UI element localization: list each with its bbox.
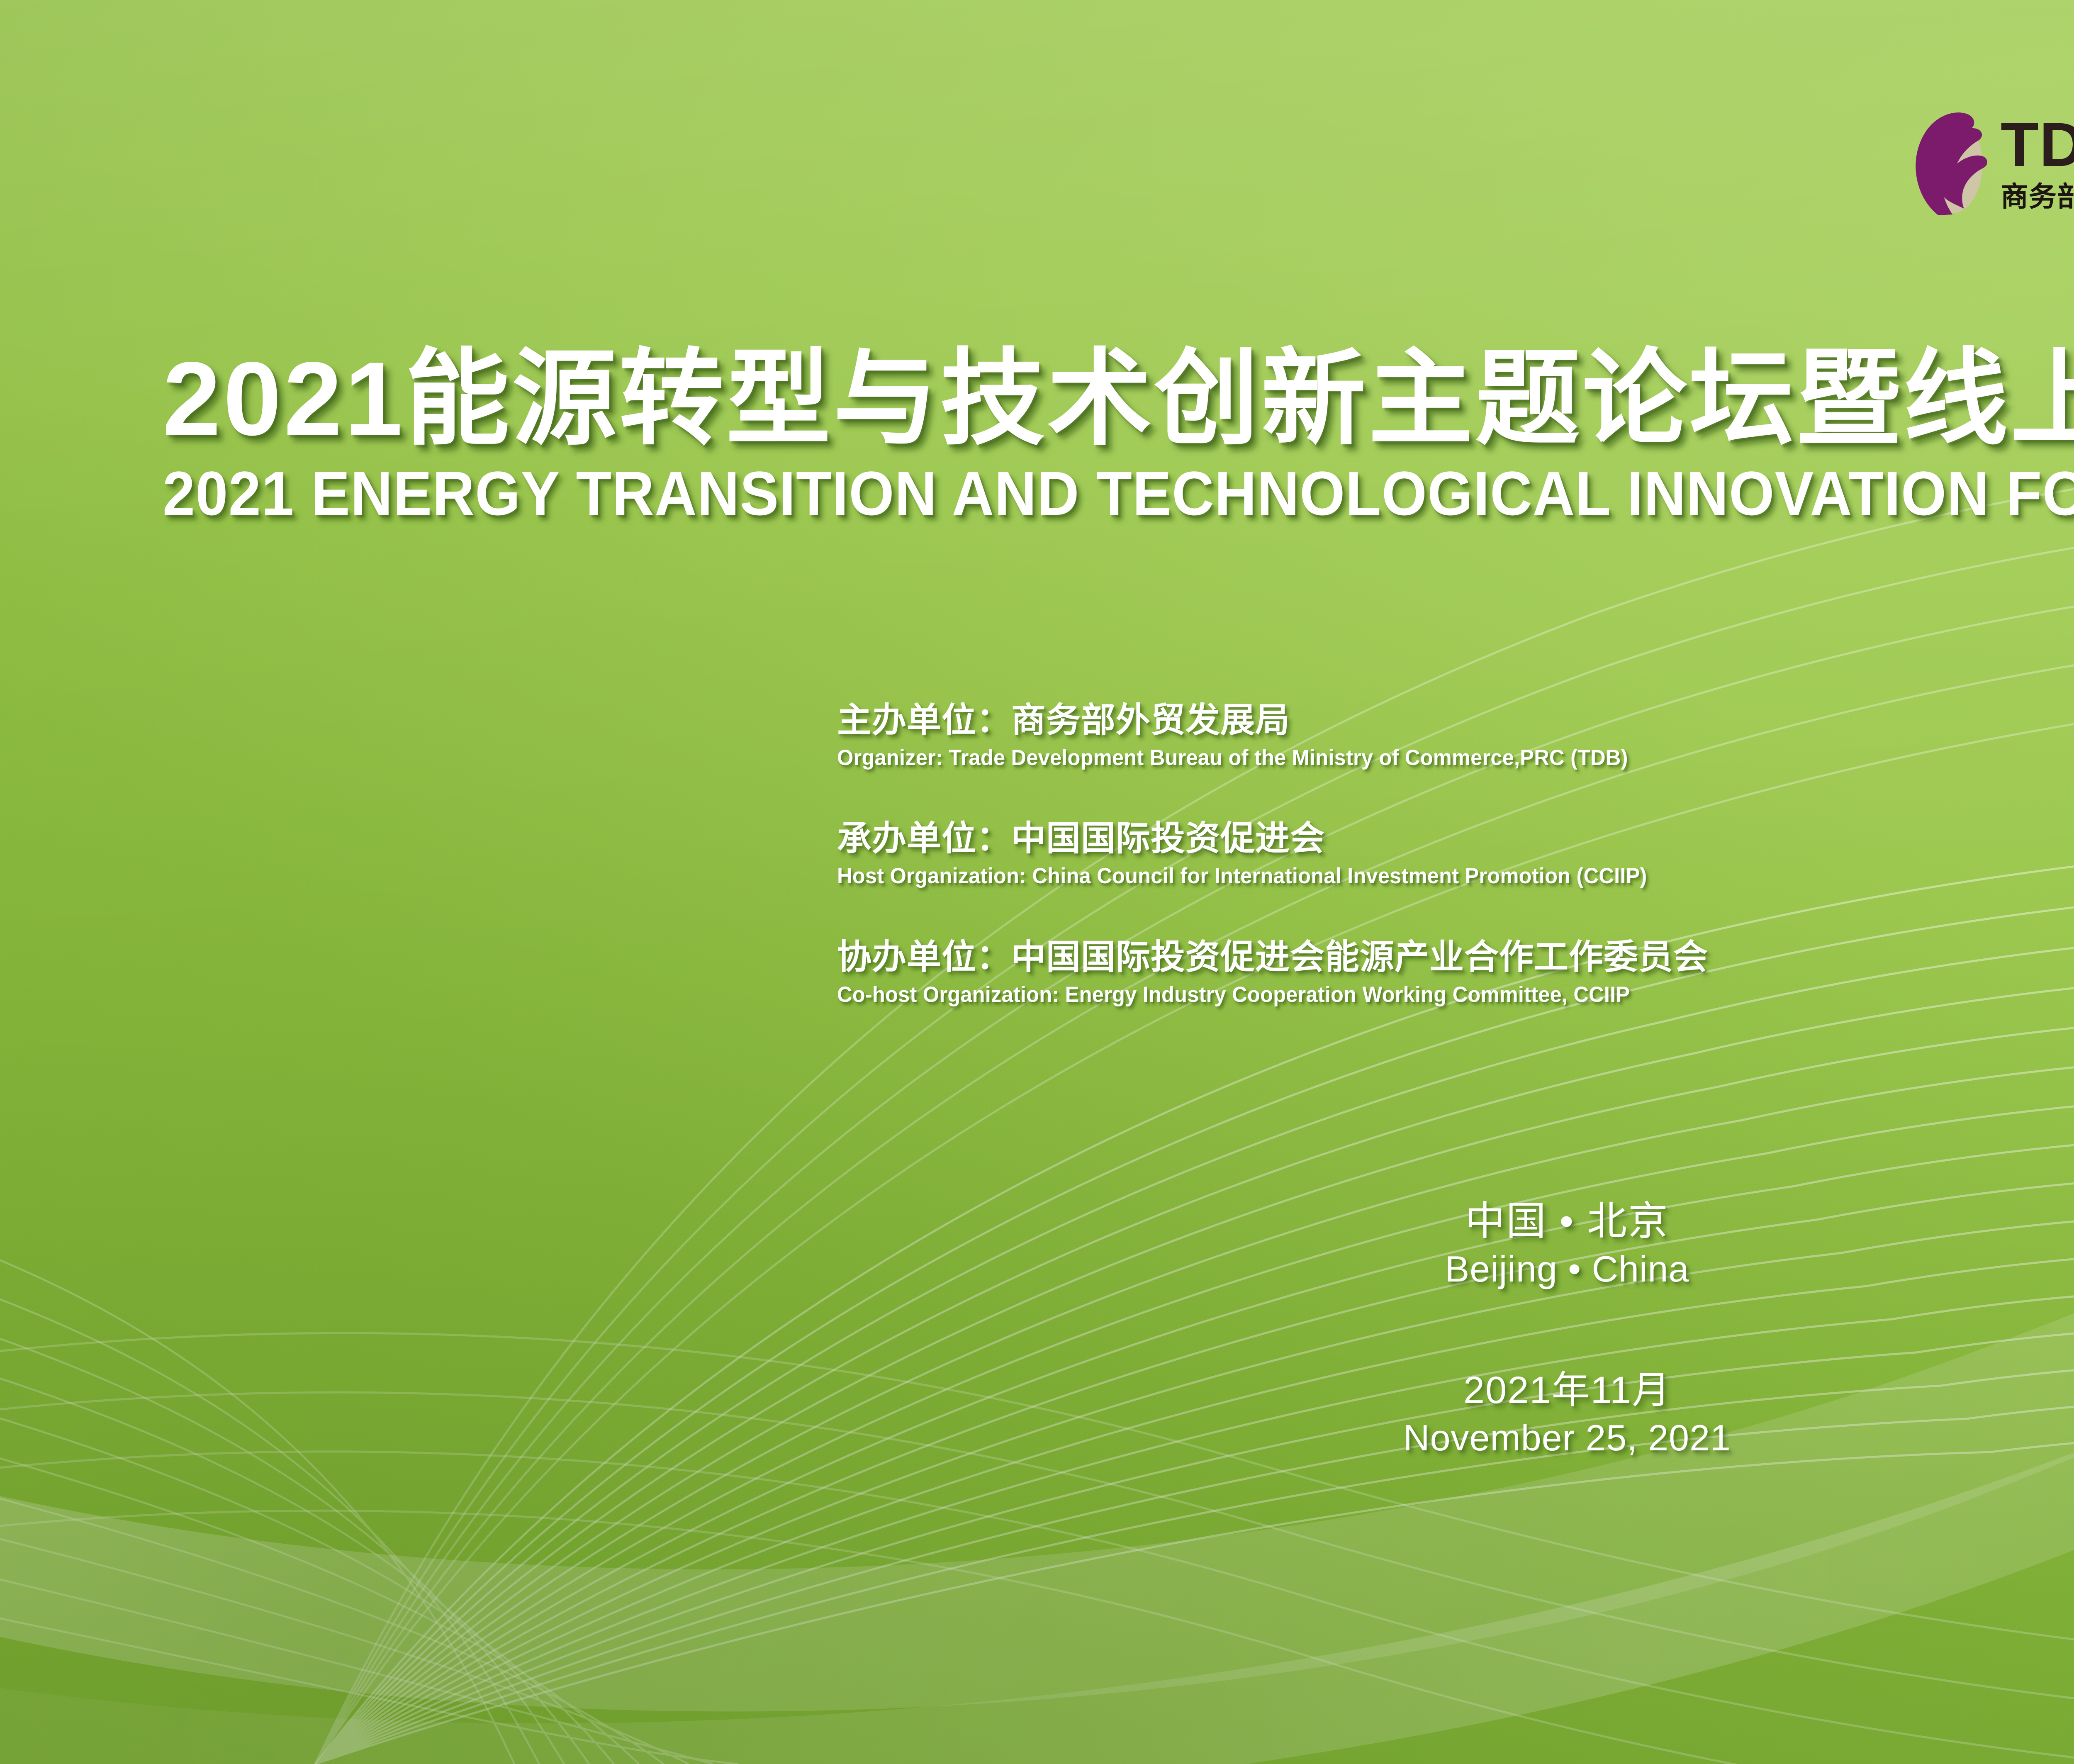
tdb-chinese-name: 商务部外贸发展局 bbox=[2001, 180, 2074, 214]
background-curve-fan-left bbox=[0, 1228, 738, 1764]
host-organization-english: Host Organization: China Council for Int… bbox=[837, 864, 2074, 889]
background-curve-fan-upper bbox=[315, 444, 2074, 1764]
venue-chinese: 中国 • 北京 bbox=[837, 1199, 2074, 1244]
organizer-english: Organizer: Trade Development Bureau of t… bbox=[837, 746, 2074, 770]
co-host-organization-block: 协办单位：中国国际投资促进会能源产业合作工作委员会 Co-host Organi… bbox=[837, 938, 2074, 1007]
venue-english: Beijing • China bbox=[837, 1249, 2074, 1290]
venue-block: 中国 • 北京 Beijing • China bbox=[837, 1199, 2074, 1289]
date-block: 2021年11月 November 25, 2021 bbox=[837, 1369, 2074, 1459]
tdb-wordmark: TDB 商务部外贸发展局 bbox=[2001, 115, 2074, 214]
background-band-lower-2 bbox=[0, 967, 2074, 1764]
tdb-swirl-globe-icon bbox=[1906, 108, 1991, 220]
organizer-chinese: 主办单位：商务部外贸发展局 bbox=[837, 701, 2074, 740]
title-chinese: 2021能源转型与技术创新主题论坛暨线上对接会 bbox=[163, 347, 2074, 451]
date-english: November 25, 2021 bbox=[837, 1418, 2074, 1459]
organization-list: 主办单位：商务部外贸发展局 Organizer: Trade Developme… bbox=[837, 701, 2074, 1007]
host-organization-chinese: 承办单位：中国国际投资促进会 bbox=[837, 819, 2074, 858]
headline: 2021能源转型与技术创新主题论坛暨线上对接会 2021 ENERGY TRAN… bbox=[163, 347, 2074, 524]
conference-banner: TDB 商务部外贸发展局 中国国际投资促进会 China Council for… bbox=[0, 0, 2074, 1764]
logo-bar: TDB 商务部外贸发展局 中国国际投资促进会 China Council for… bbox=[1906, 103, 2074, 226]
title-english: 2021 ENERGY TRANSITION AND TECHNOLOGICAL… bbox=[163, 462, 2074, 524]
host-organization-block: 承办单位：中国国际投资促进会 Host Organization: China … bbox=[837, 819, 2074, 889]
organizer-block: 主办单位：商务部外贸发展局 Organizer: Trade Developme… bbox=[837, 701, 2074, 770]
logo-tdb: TDB 商务部外贸发展局 bbox=[1906, 108, 2074, 220]
co-host-organization-english: Co-host Organization: Energy Industry Co… bbox=[837, 982, 2074, 1007]
co-host-organization-chinese: 协办单位：中国国际投资促进会能源产业合作工作委员会 bbox=[837, 938, 2074, 977]
tdb-abbreviation: TDB bbox=[2001, 115, 2074, 174]
date-chinese: 2021年11月 bbox=[837, 1369, 2074, 1412]
